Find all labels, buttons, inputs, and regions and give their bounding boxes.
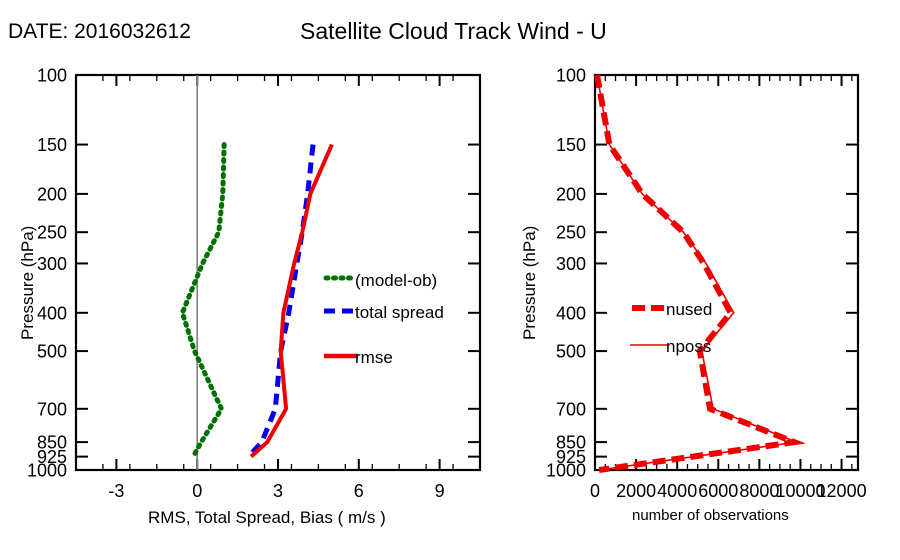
svg-text:250: 250 xyxy=(556,223,586,243)
svg-text:500: 500 xyxy=(556,342,586,362)
svg-text:1000: 1000 xyxy=(546,461,586,481)
svg-text:0: 0 xyxy=(590,481,600,501)
svg-text:700: 700 xyxy=(556,399,586,419)
svg-text:2000: 2000 xyxy=(616,481,656,501)
right-x-axis-title: number of observations xyxy=(632,507,789,524)
chart-canvas: DATE: 2016032612 Satellite Cloud Track W… xyxy=(0,0,900,560)
svg-text:6000: 6000 xyxy=(698,481,738,501)
svg-text:100: 100 xyxy=(556,66,586,86)
svg-text:4000: 4000 xyxy=(657,481,697,501)
svg-text:200: 200 xyxy=(556,184,586,204)
svg-text:300: 300 xyxy=(556,254,586,274)
legend-label-nused: nused xyxy=(666,300,712,320)
svg-text:12000: 12000 xyxy=(817,481,867,501)
svg-text:400: 400 xyxy=(556,303,586,323)
legend-label-nposs: nposs xyxy=(666,337,711,357)
svg-text:150: 150 xyxy=(556,135,586,155)
right-panel-plot: 1001502002503004005007008509251000020004… xyxy=(0,0,900,560)
svg-text:8000: 8000 xyxy=(739,481,779,501)
right-y-axis-title: Pressure (hPa) xyxy=(520,226,540,340)
